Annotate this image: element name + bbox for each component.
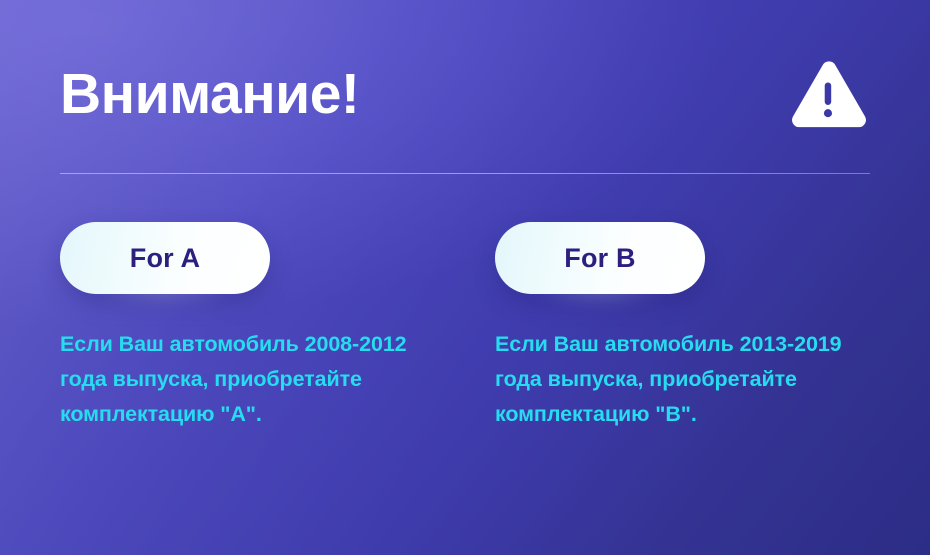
option-a-description: Если Ваш автомобиль 2008-2012 года выпус… bbox=[60, 294, 440, 432]
option-column-b: For B Если Ваш автомобиль 2013-2019 года… bbox=[495, 222, 895, 432]
banner-content: Внимание! For A Если Ваш автомобиль 20 bbox=[0, 0, 930, 555]
warning-triangle-icon bbox=[792, 57, 872, 131]
for-b-button-label: For B bbox=[564, 245, 636, 272]
for-b-button-wrap: For B bbox=[495, 222, 705, 294]
header-divider bbox=[60, 173, 870, 174]
option-column-a: For A Если Ваш автомобиль 2008-2012 года… bbox=[60, 222, 460, 432]
for-a-button[interactable]: For A bbox=[60, 222, 270, 294]
for-b-button[interactable]: For B bbox=[495, 222, 705, 294]
page-title: Внимание! bbox=[60, 66, 359, 123]
attention-banner: Внимание! For A Если Ваш автомобиль 20 bbox=[0, 0, 930, 555]
for-a-button-wrap: For A bbox=[60, 222, 270, 294]
option-b-description: Если Ваш автомобиль 2013-2019 года выпус… bbox=[495, 294, 875, 432]
for-a-button-label: For A bbox=[130, 245, 201, 272]
banner-header: Внимание! bbox=[60, 46, 872, 142]
